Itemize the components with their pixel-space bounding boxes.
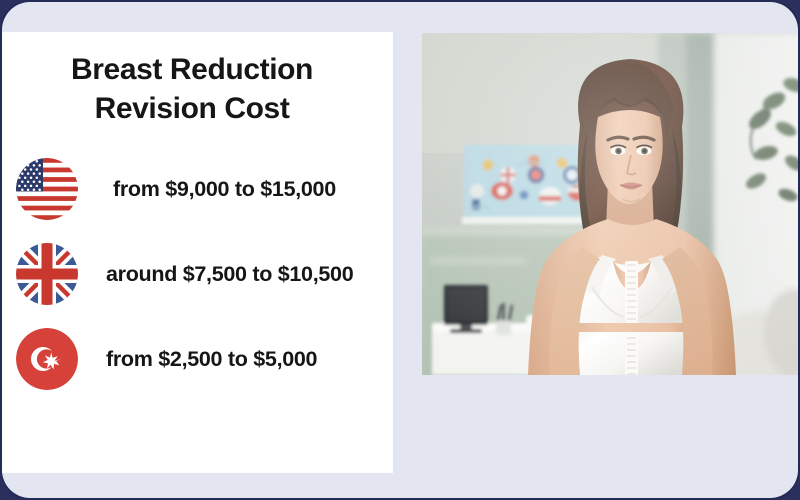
info-card: Breast Reduction Revision Cost [2,32,393,473]
flag-uk-wrapper [14,241,80,307]
price-label-uk: around $7,500 to $10,500 [106,262,353,287]
flag-turkey-wrapper [14,326,80,392]
clinic-photo [422,33,798,375]
page-title-line-2: Revision Cost [2,89,382,128]
price-label-tr: from $2,500 to $5,000 [106,347,317,372]
page-title-line-1: Breast Reduction [2,50,382,89]
flag-us-wrapper [14,156,80,222]
flag-uk-icon [16,243,78,305]
flag-us-icon [16,158,78,220]
price-row-uk: around $7,500 to $10,500 [2,241,392,307]
price-label-us: from $9,000 to $15,000 [113,177,336,202]
slide-surface: Breast Reduction Revision Cost [2,2,798,498]
price-row-tr: from $2,500 to $5,000 [2,326,392,392]
page-title: Breast Reduction Revision Cost [2,50,382,128]
price-row-us: from $9,000 to $15,000 [2,156,392,222]
slide-device-frame: Breast Reduction Revision Cost [0,0,800,500]
flag-turkey-icon [16,328,78,390]
